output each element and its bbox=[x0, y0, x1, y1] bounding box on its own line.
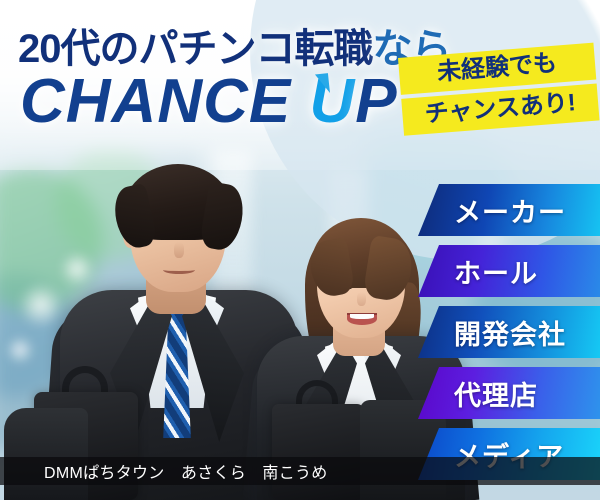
badge-no-experience: 未経験でも チャンスあり! bbox=[398, 43, 600, 136]
man-arm-left bbox=[4, 408, 88, 500]
logo-chance-up: CHANCE UP bbox=[20, 66, 398, 137]
advertisement-banner[interactable]: 20代のパチンコ転職なら CHANCE UP 未経験でも チャンスあり! メーカ… bbox=[0, 0, 600, 500]
logo-word-chance: CHANCE bbox=[20, 67, 291, 136]
caption-credits: DMMぱちタウン あさくら 南こうめ bbox=[44, 457, 328, 485]
category-label: 開発会社 bbox=[454, 313, 566, 352]
category-banner-hall[interactable]: ホール bbox=[418, 245, 600, 297]
up-arrow-icon bbox=[311, 73, 330, 95]
category-banner-maker[interactable]: メーカー bbox=[418, 184, 600, 236]
logo-letter-p: P bbox=[355, 67, 397, 136]
man-mouth bbox=[163, 266, 195, 274]
category-label: 代理店 bbox=[454, 374, 538, 413]
briefcase-right bbox=[272, 404, 364, 500]
category-banner-development-company[interactable]: 開発会社 bbox=[418, 306, 600, 358]
man-nose bbox=[174, 242, 184, 258]
woman-teeth bbox=[350, 314, 374, 319]
background-bokeh bbox=[6, 336, 34, 364]
woman-nose bbox=[357, 292, 366, 306]
category-label: ホール bbox=[454, 252, 538, 291]
category-label: メーカー bbox=[454, 191, 566, 230]
category-banner-agency[interactable]: 代理店 bbox=[418, 367, 600, 419]
headline-primary-main: 20代のパチンコ転職 bbox=[18, 27, 373, 71]
